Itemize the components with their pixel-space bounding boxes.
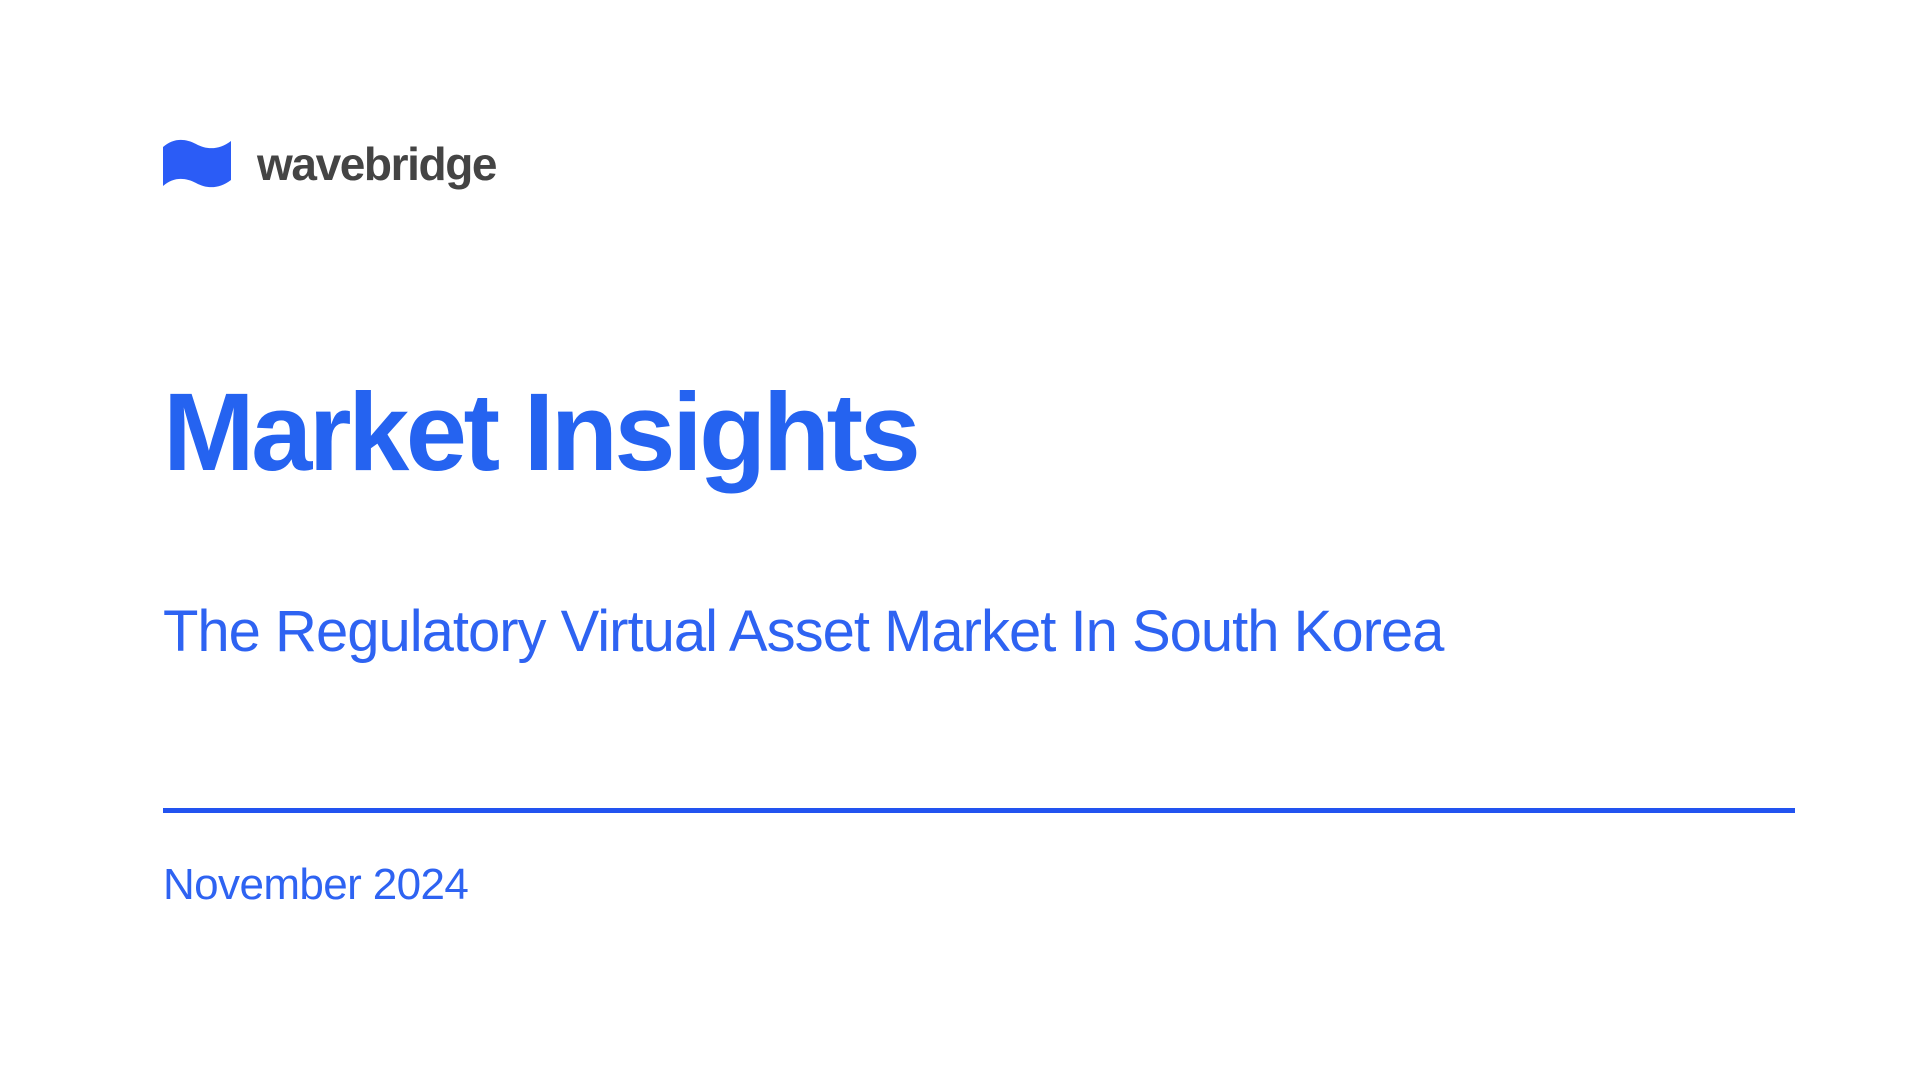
wave-flag-icon [163,139,231,189]
page-subtitle: The Regulatory Virtual Asset Market In S… [163,492,1795,669]
publication-date: November 2024 [163,821,1795,907]
divider-rule [163,808,1795,813]
title-slide: wavebridge Market Insights The Regulator… [0,0,1920,1080]
title-block: Market Insights The Regulatory Virtual A… [163,374,1795,907]
brand-logo: wavebridge [163,132,496,196]
page-title: Market Insights [163,374,1795,492]
brand-wordmark: wavebridge [257,141,496,187]
